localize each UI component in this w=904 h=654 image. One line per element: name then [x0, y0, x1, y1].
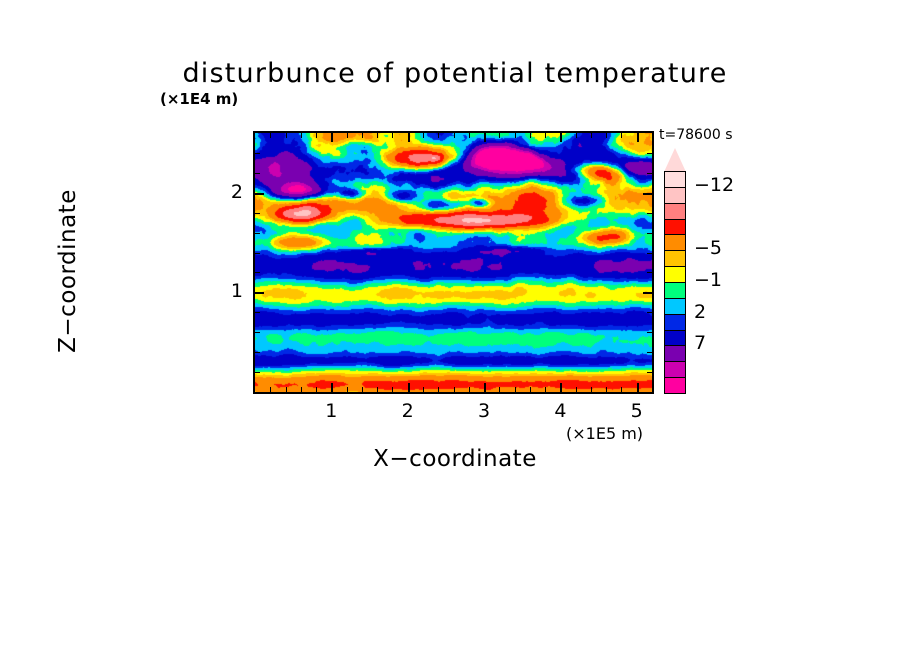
x-tick-minor	[621, 387, 622, 392]
x-tick-minor	[316, 387, 317, 392]
y-tick-minor-right	[647, 312, 652, 313]
x-tick-label: 2	[393, 400, 423, 422]
x-tick-minor	[454, 387, 455, 392]
colorbar[interactable]	[664, 171, 686, 393]
x-tick-minor	[530, 387, 531, 392]
y-tick-minor-right	[647, 173, 652, 174]
x-tick-label: 5	[622, 400, 652, 422]
x-tick-minor-top	[392, 133, 393, 138]
colorbar-tick-label: −1	[694, 269, 722, 291]
y-tick-label: 1	[213, 280, 243, 302]
colorbar-band	[664, 234, 686, 251]
x-tick-minor	[499, 387, 500, 392]
contour-field	[255, 133, 652, 392]
x-tick-label: 1	[316, 400, 346, 422]
y-tick-minor	[255, 173, 260, 174]
x-tick-minor	[362, 387, 363, 392]
x-tick-major-top	[560, 133, 562, 142]
x-tick-major-top	[408, 133, 410, 142]
x-tick-major	[560, 383, 562, 392]
x-tick-minor-top	[286, 133, 287, 138]
y-tick-minor-right	[647, 332, 652, 333]
x-tick-major-top	[484, 133, 486, 142]
colorbar-band	[664, 298, 686, 315]
colorbar-band	[664, 187, 686, 204]
x-tick-major	[408, 383, 410, 392]
colorbar-band	[664, 171, 686, 188]
x-tick-minor-top	[316, 133, 317, 138]
y-tick-major	[255, 292, 264, 294]
y-tick-minor-right	[647, 213, 652, 214]
x-tick-minor	[347, 387, 348, 392]
colorbar-band	[664, 203, 686, 220]
x-tick-minor	[576, 387, 577, 392]
x-tick-minor	[270, 387, 271, 392]
x-tick-minor-top	[545, 133, 546, 138]
y-tick-minor-right	[647, 253, 652, 254]
x-tick-minor-top	[469, 133, 470, 138]
colorbar-band	[664, 314, 686, 331]
x-tick-minor	[545, 387, 546, 392]
x-tick-major-top	[637, 133, 639, 142]
colorbar-band	[664, 266, 686, 283]
x-tick-minor-top	[423, 133, 424, 138]
x-tick-minor-top	[454, 133, 455, 138]
colorbar-tick-label: 7	[694, 332, 706, 354]
x-tick-minor	[515, 387, 516, 392]
y-tick-minor-right	[647, 372, 652, 373]
colorbar-tick-label: −12	[694, 174, 734, 196]
y-tick-major	[255, 193, 264, 195]
x-tick-major	[331, 383, 333, 392]
y-tick-label: 2	[213, 181, 243, 203]
x-tick-label: 4	[545, 400, 575, 422]
y-tick-minor-right	[647, 352, 652, 353]
colorbar-arrow-icon	[664, 148, 686, 172]
x-axis-title: X−coordinate	[300, 446, 610, 472]
x-tick-label: 3	[469, 400, 499, 422]
x-tick-minor-top	[362, 133, 363, 138]
x-tick-minor-top	[515, 133, 516, 138]
colorbar-band	[664, 361, 686, 378]
x-tick-minor-top	[301, 133, 302, 138]
colorbar-band	[664, 282, 686, 299]
y-tick-minor	[255, 272, 260, 273]
x-tick-minor-top	[270, 133, 271, 138]
x-tick-major	[637, 383, 639, 392]
x-unit-label: (×1E5 m)	[566, 424, 643, 443]
colorbar-band	[664, 250, 686, 267]
y-tick-minor	[255, 213, 260, 214]
y-tick-minor	[255, 253, 260, 254]
contour-plot-area[interactable]	[253, 131, 654, 394]
x-tick-minor	[286, 387, 287, 392]
x-tick-minor	[423, 387, 424, 392]
y-tick-minor	[255, 233, 260, 234]
x-tick-minor	[438, 387, 439, 392]
x-tick-minor	[469, 387, 470, 392]
y-tick-major-right	[643, 292, 652, 294]
page-title: disturbunce of potential temperature	[170, 58, 740, 89]
y-axis-title: Z−coordinate	[55, 146, 81, 396]
colorbar-band	[664, 330, 686, 347]
figure-canvas: disturbunce of potential temperature (×1…	[0, 0, 904, 654]
colorbar-tick-label: −5	[694, 237, 722, 259]
x-tick-minor	[301, 387, 302, 392]
x-tick-minor	[377, 387, 378, 392]
x-tick-minor-top	[576, 133, 577, 138]
y-tick-minor	[255, 312, 260, 313]
x-tick-major-top	[331, 133, 333, 142]
x-tick-minor-top	[499, 133, 500, 138]
x-tick-minor-top	[621, 133, 622, 138]
y-unit-label: (×1E4 m)	[160, 90, 238, 108]
y-tick-minor	[255, 352, 260, 353]
x-tick-minor-top	[438, 133, 439, 138]
colorbar-tick-label: 2	[694, 301, 706, 323]
y-tick-minor-right	[647, 153, 652, 154]
y-tick-major-right	[643, 193, 652, 195]
y-tick-minor-right	[647, 233, 652, 234]
y-tick-minor	[255, 153, 260, 154]
colorbar-band	[664, 345, 686, 362]
y-tick-minor-right	[647, 272, 652, 273]
colorbar-band	[664, 377, 686, 394]
timestamp-label: t=78600 s	[659, 127, 733, 143]
x-tick-minor-top	[377, 133, 378, 138]
x-tick-major	[484, 383, 486, 392]
x-tick-minor-top	[347, 133, 348, 138]
x-tick-minor	[606, 387, 607, 392]
x-tick-minor	[392, 387, 393, 392]
y-tick-minor	[255, 332, 260, 333]
y-tick-minor	[255, 372, 260, 373]
x-tick-minor-top	[591, 133, 592, 138]
x-tick-minor-top	[530, 133, 531, 138]
colorbar-band	[664, 219, 686, 236]
x-tick-minor-top	[606, 133, 607, 138]
x-tick-minor	[591, 387, 592, 392]
